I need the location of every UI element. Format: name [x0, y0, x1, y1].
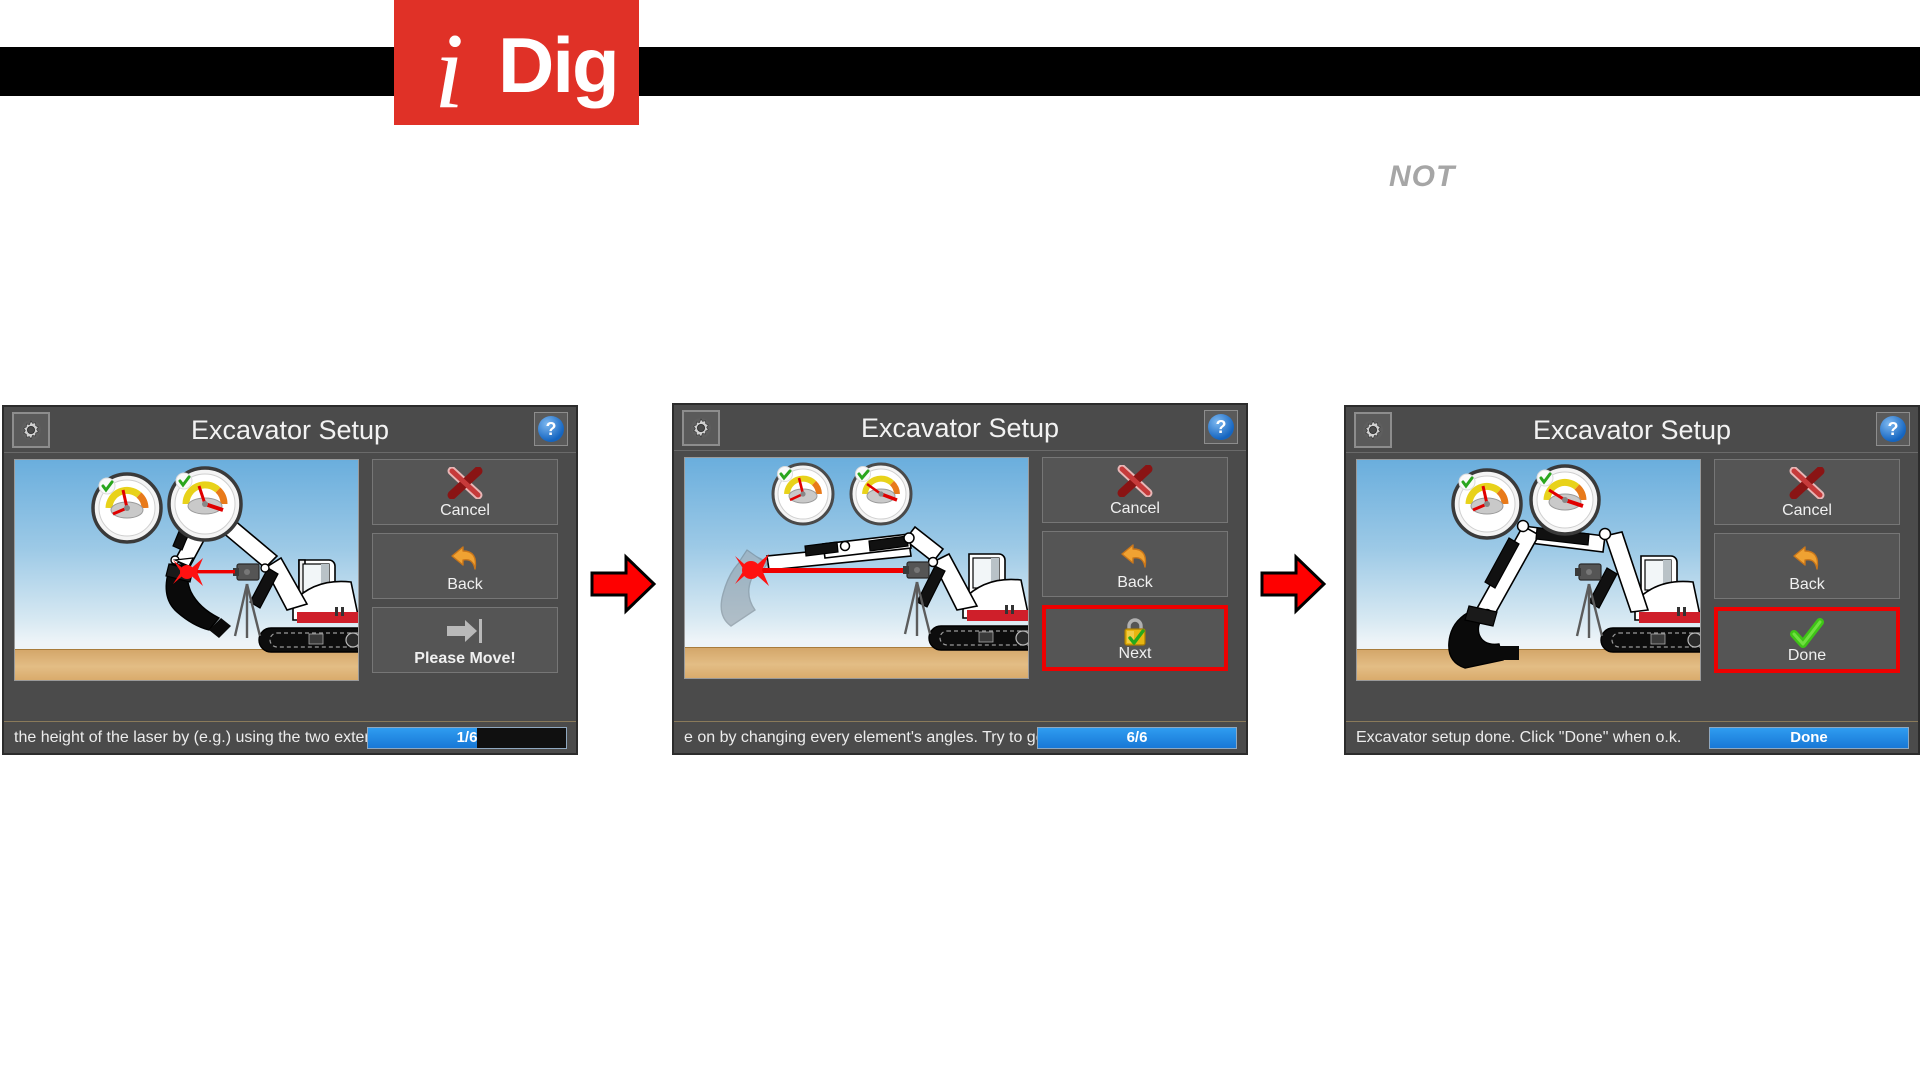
back-button-label: Back [1789, 576, 1825, 594]
status-text: e on by changing every element's angles.… [684, 729, 1037, 747]
logo-letter-i: i [434, 18, 464, 125]
please-move-button-label: Please Move! [414, 650, 515, 668]
cancel-button[interactable]: Cancel [372, 459, 558, 525]
cancel-button-label: Cancel [1782, 502, 1832, 520]
panel-1-statusbar: the height of the laser by (e.g.) using … [4, 721, 576, 753]
panel-2-statusbar: e on by changing every element's angles.… [674, 721, 1246, 753]
panel-1-button-column: Cancel Back Please Move! [372, 459, 568, 681]
page-title: Excavator Setup [4, 407, 576, 453]
progress-label: 6/6 [1038, 728, 1236, 748]
panel-2-titlebar: Excavator Setup ? [674, 405, 1246, 451]
done-button-label: Done [1788, 647, 1826, 665]
back-arrow-icon [1043, 536, 1227, 574]
panel-2-button-column: Cancel Back [1042, 457, 1238, 679]
flow-arrow-1-icon [588, 549, 658, 619]
idig-logo: i Dig [394, 0, 639, 125]
back-arrow-icon [1715, 538, 1899, 576]
help-icon: ? [538, 416, 564, 442]
excavator-setup-panel-2: Excavator Setup ? [672, 403, 1248, 755]
progress-label: 1/6 [368, 728, 566, 748]
help-icon: ? [1208, 414, 1234, 440]
cancel-x-icon [1715, 464, 1899, 502]
page-title: Excavator Setup [1346, 407, 1918, 453]
panel-3-titlebar: Excavator Setup ? [1346, 407, 1918, 453]
step-progress: 1/6 [367, 727, 567, 749]
status-text: Excavator setup done. Click "Done" when … [1356, 729, 1709, 747]
panel-3-body: Cancel Back Done [1346, 453, 1918, 685]
back-button-label: Back [447, 576, 483, 594]
flow-arrow-2-icon [1258, 549, 1328, 619]
excavator-scene-2 [684, 457, 1029, 679]
help-button[interactable]: ? [1204, 410, 1238, 444]
back-arrow-icon [373, 538, 557, 576]
next-button[interactable]: Next [1042, 605, 1228, 671]
help-button[interactable]: ? [1876, 412, 1910, 446]
help-button[interactable]: ? [534, 412, 568, 446]
cancel-button[interactable]: Cancel [1714, 459, 1900, 525]
panel-1-titlebar: Excavator Setup ? [4, 407, 576, 453]
top-black-bar [0, 47, 1920, 96]
help-icon: ? [1880, 416, 1906, 442]
panel-3-statusbar: Excavator setup done. Click "Done" when … [1346, 721, 1918, 753]
cancel-button-label: Cancel [440, 502, 490, 520]
excavator-setup-panel-1: Excavator Setup ? [2, 405, 578, 755]
done-confirm-button[interactable]: Done [1709, 727, 1909, 749]
status-text: the height of the laser by (e.g.) using … [14, 729, 367, 747]
step-progress: 6/6 [1037, 727, 1237, 749]
back-button[interactable]: Back [1714, 533, 1900, 599]
excavator-setup-panel-3: Excavator Setup ? [1344, 405, 1920, 755]
not-annotation: NOT [1389, 160, 1455, 194]
back-button-label: Back [1117, 574, 1153, 592]
cancel-button-label: Cancel [1110, 500, 1160, 518]
logo-word-dig: Dig [498, 26, 618, 104]
back-button[interactable]: Back [372, 533, 558, 599]
excavator-scene-3 [1356, 459, 1701, 681]
excavator-scene-1 [14, 459, 359, 681]
back-button[interactable]: Back [1042, 531, 1228, 597]
please-move-button[interactable]: Please Move! [372, 607, 558, 673]
cancel-x-icon [373, 464, 557, 502]
done-button[interactable]: Done [1714, 607, 1900, 673]
next-button-label: Next [1119, 645, 1152, 663]
cancel-x-icon [1043, 462, 1227, 500]
logo-inner: i Dig [394, 0, 639, 125]
arrow-to-bar-icon [373, 612, 557, 650]
panel-1-body: Cancel Back Please Move! [4, 453, 576, 685]
page-title: Excavator Setup [674, 405, 1246, 451]
cancel-button[interactable]: Cancel [1042, 457, 1228, 523]
panel-2-body: Cancel Back [674, 451, 1246, 683]
panel-3-button-column: Cancel Back Done [1714, 459, 1910, 681]
